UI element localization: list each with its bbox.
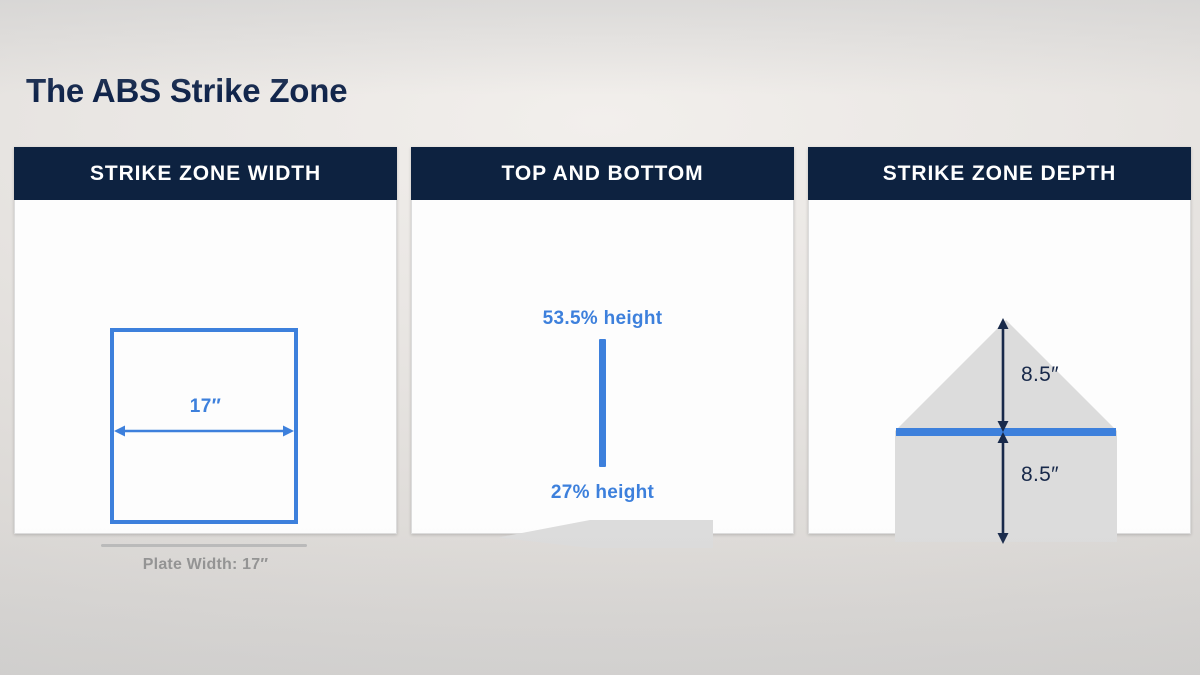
panel-body-strike-zone-depth: 8.5″ 8.5″ (808, 200, 1191, 534)
panel-header-label: STRIKE ZONE DEPTH (883, 162, 1116, 186)
panel-header-top-and-bottom: TOP AND BOTTOM (411, 147, 794, 200)
double-headed-vertical-arrow-bottom-icon (995, 432, 1011, 544)
depth-measure-label-top: 8.5″ (1021, 363, 1059, 387)
panel-top-and-bottom: TOP AND BOTTOM 53.5% height 27% height (411, 147, 794, 534)
double-headed-horizontal-arrow-icon (114, 424, 294, 438)
width-measure-label: 17″ (15, 396, 396, 418)
plate-width-caption: Plate Width: 17″ (15, 556, 396, 574)
panel-body-top-and-bottom: 53.5% height 27% height (411, 200, 794, 534)
panel-strike-zone-depth: STRIKE ZONE DEPTH 8.5″ 8.5″ (808, 147, 1191, 534)
panel-header-label: TOP AND BOTTOM (502, 162, 704, 186)
panel-header-strike-zone-width: STRIKE ZONE WIDTH (14, 147, 397, 200)
vertical-height-bar-icon (599, 339, 606, 467)
slide-canvas: The ABS Strike Zone STRIKE ZONE WIDTH 17… (0, 0, 1200, 675)
bottom-of-zone-label: 27% height (412, 482, 793, 504)
home-plate-perspective-icon (498, 512, 713, 552)
panel-body-strike-zone-width: 17″ Plate Width: 17″ (14, 200, 397, 534)
top-of-zone-label: 53.5% height (412, 308, 793, 330)
panel-header-label: STRIKE ZONE WIDTH (90, 162, 321, 186)
double-headed-vertical-arrow-top-icon (995, 318, 1011, 432)
plate-width-rule (101, 544, 307, 547)
panel-header-strike-zone-depth: STRIKE ZONE DEPTH (808, 147, 1191, 200)
page-title: The ABS Strike Zone (26, 72, 347, 110)
panel-strike-zone-width: STRIKE ZONE WIDTH 17″ Plate Width: 17″ (14, 147, 397, 534)
depth-measure-label-bottom: 8.5″ (1021, 463, 1059, 487)
